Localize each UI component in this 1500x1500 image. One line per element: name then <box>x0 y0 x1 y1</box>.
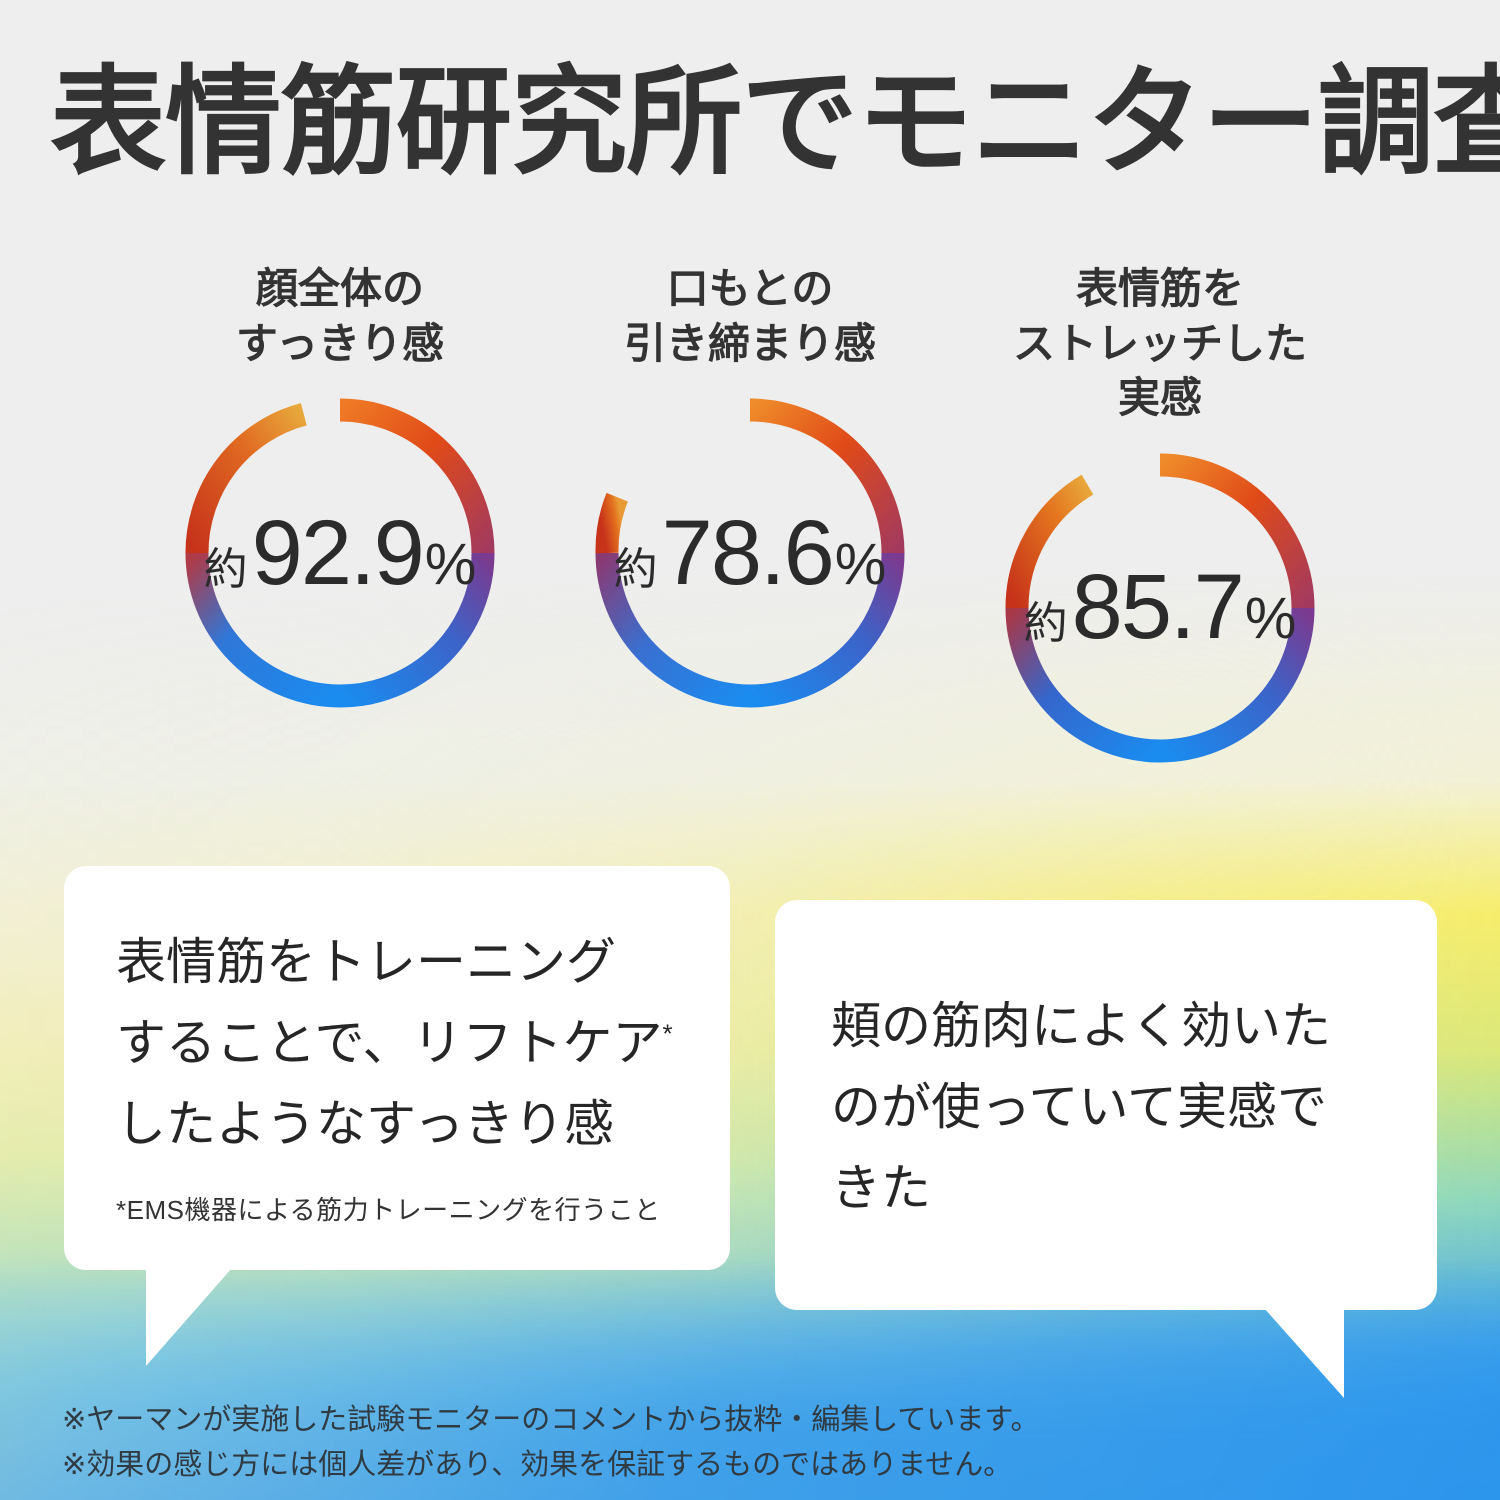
testimonial-bubble-2: 頬の筋肉によく効いた のが使っていて実感で きた <box>775 900 1437 1310</box>
percent-value-2: 78.6 <box>662 501 833 606</box>
stat-label-3: 表情筋を ストレッチした 実感 <box>1013 262 1307 426</box>
donut-value-3: 約 85.7 % <box>1024 555 1297 660</box>
disclaimer-block: ※ヤーマンが実施した試験モニターのコメントから抜粋・編集しています。 ※効果の感… <box>62 1398 1040 1488</box>
stat-card-1: 顔全体の すっきり感 <box>135 262 545 723</box>
bubble-tail-2 <box>1264 1308 1344 1398</box>
donut-chart-2: 約 78.6 % <box>570 383 930 723</box>
footnote-marker-icon: * <box>663 1018 673 1048</box>
testimonial-bubble-1: 表情筋をトレーニング することで、リフトケア* したようなすっきり感 *EMS機… <box>64 866 730 1270</box>
disclaimer-line-2: ※効果の感じ方には個人差があり、効果を保証するものではありません。 <box>62 1443 1040 1488</box>
testimonial-text-2: 頬の筋肉によく効いた のが使っていて実感で きた <box>831 986 1437 1229</box>
donut-value-2: 約 78.6 % <box>614 501 887 606</box>
percent-value-3: 85.7 <box>1072 555 1243 660</box>
testimonial-text-1: 表情筋をトレーニング することで、リフトケア* したようなすっきり感 <box>116 922 730 1165</box>
page-title: 表情筋研究所でモニター調査実施 <box>50 62 1429 186</box>
percent-unit-1: % <box>425 531 477 598</box>
donut-chart-1: 約 92.9 % <box>160 383 520 723</box>
infographic-canvas: 表情筋研究所でモニター調査実施 顔全体の すっきり感 <box>0 0 1500 1500</box>
approx-prefix-2: 約 <box>614 533 658 597</box>
approx-prefix-1: 約 <box>204 533 248 597</box>
testimonial-text-1-part-a: 表情筋をトレーニング することで、リフトケア <box>116 934 663 1071</box>
testimonial-footnote-1: *EMS機器による筋力トレーニングを行うこと <box>116 1194 661 1228</box>
stat-card-3: 表情筋を ストレッチした 実感 <box>955 262 1365 778</box>
percent-unit-3: % <box>1245 585 1297 652</box>
disclaimer-line-1: ※ヤーマンが実施した試験モニターのコメントから抜粋・編集しています。 <box>62 1398 1040 1443</box>
stat-card-2: 口もとの 引き締まり感 <box>545 262 955 723</box>
percent-unit-2: % <box>835 531 887 598</box>
stats-row: 顔全体の すっきり感 <box>0 262 1500 778</box>
percent-value-1: 92.9 <box>252 501 423 606</box>
approx-prefix-3: 約 <box>1024 587 1068 651</box>
bubble-tail-1 <box>146 1268 232 1366</box>
donut-chart-3: 約 85.7 % <box>980 438 1340 778</box>
testimonial-text-1-part-b: したようなすっきり感 <box>116 1096 614 1152</box>
stat-label-2: 口もとの 引き締まり感 <box>624 262 876 371</box>
donut-value-1: 約 92.9 % <box>204 501 477 606</box>
stat-label-1: 顔全体の すっきり感 <box>236 262 444 371</box>
